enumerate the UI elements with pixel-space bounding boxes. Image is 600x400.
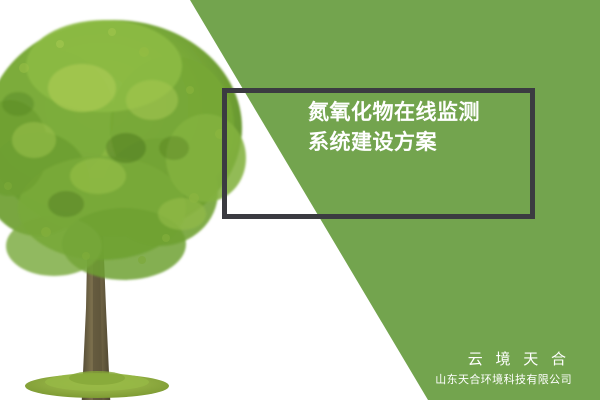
presentation-title-slide: 氮氧化物在线监测 系统建设方案 云 境 天 合 山东天合环境科技有限公司 xyxy=(0,0,600,400)
brand-name: 云 境 天 合 xyxy=(435,348,572,370)
grass-base xyxy=(25,371,169,398)
brand-company-name: 山东天合环境科技有限公司 xyxy=(435,370,572,390)
tree-canopy xyxy=(0,20,246,280)
tree-photo xyxy=(0,8,256,400)
brand-block: 云 境 天 合 山东天合环境科技有限公司 xyxy=(435,348,572,390)
page-title: 氮氧化物在线监测 系统建设方案 xyxy=(308,97,538,157)
